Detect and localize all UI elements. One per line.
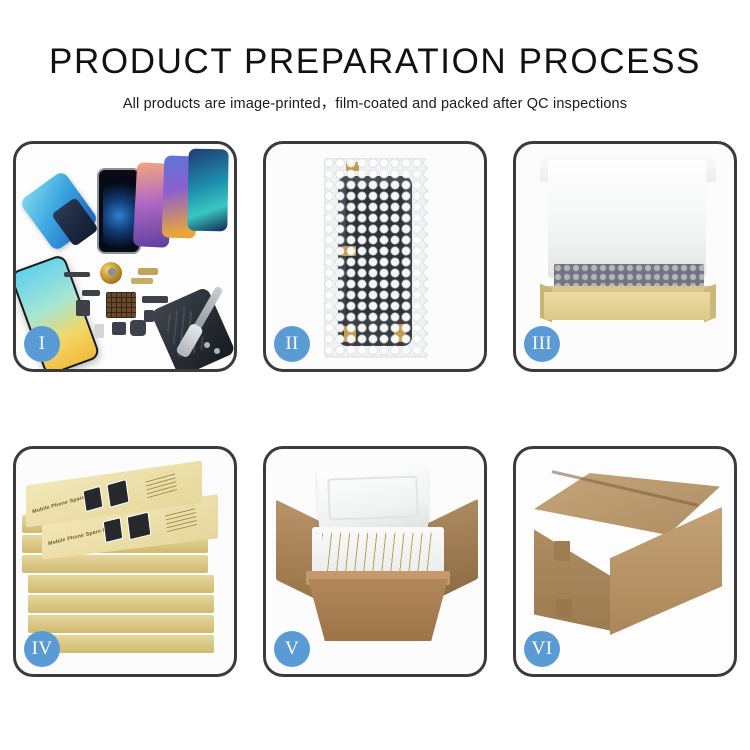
page-title: PRODUCT PREPARATION PROCESS [0, 42, 750, 82]
box-screen-photo [103, 517, 124, 543]
yellow-box-front [544, 292, 710, 320]
small-part [112, 322, 126, 335]
box-layer [28, 575, 214, 593]
bubble-wrap-bag [324, 158, 428, 358]
small-part [130, 320, 146, 336]
yellow-boxes-inside [322, 533, 434, 575]
page-subtitle: All products are image-printed，film-coat… [0, 92, 750, 113]
phone-teal [187, 149, 228, 232]
product-preparation-infographic: PRODUCT PREPARATION PROCESS All products… [0, 0, 750, 750]
screw [204, 342, 210, 348]
carton-tape-lower [556, 599, 572, 617]
step-panel-6: VI [513, 446, 737, 677]
foam-cooler-lid [317, 465, 429, 531]
step-badge-2: II [274, 326, 310, 362]
small-part [131, 278, 153, 284]
step-badge-4: IV [24, 631, 60, 667]
carton-tape-upper [554, 541, 570, 561]
header: PRODUCT PREPARATION PROCESS All products… [0, 0, 750, 113]
box-spec-lines [165, 505, 197, 532]
small-part [64, 272, 90, 277]
box-screen-photo [127, 511, 152, 540]
bubble-texture [324, 158, 428, 358]
box-screen-photo [106, 479, 129, 508]
box-layer [28, 595, 214, 613]
step-panel-4: Mobile Phone Spare Parts Mobile Phone Sp… [13, 446, 237, 677]
chip-array-icon [106, 292, 136, 318]
step-badge-5: V [274, 631, 310, 667]
box-layer [28, 615, 214, 633]
small-part [82, 290, 100, 296]
carton-body [308, 579, 448, 641]
step-panel-2: II [263, 141, 487, 372]
small-part [94, 324, 104, 338]
small-part [108, 268, 116, 276]
flex-cable [142, 296, 168, 303]
step-panel-5: V [263, 446, 487, 677]
step-panel-1: I [13, 141, 237, 372]
box-spec-lines [145, 471, 177, 499]
screw [214, 348, 220, 354]
foam-sheet [548, 160, 706, 278]
process-step-grid: I II [13, 141, 737, 677]
box-screen-photo [83, 486, 104, 512]
step-badge-1: I [24, 326, 60, 362]
step-panel-3: III [513, 141, 737, 372]
carton-left-face [534, 513, 612, 631]
step-badge-6: VI [524, 631, 560, 667]
step-badge-3: III [524, 326, 560, 362]
small-part [138, 268, 158, 275]
small-part [76, 300, 90, 316]
